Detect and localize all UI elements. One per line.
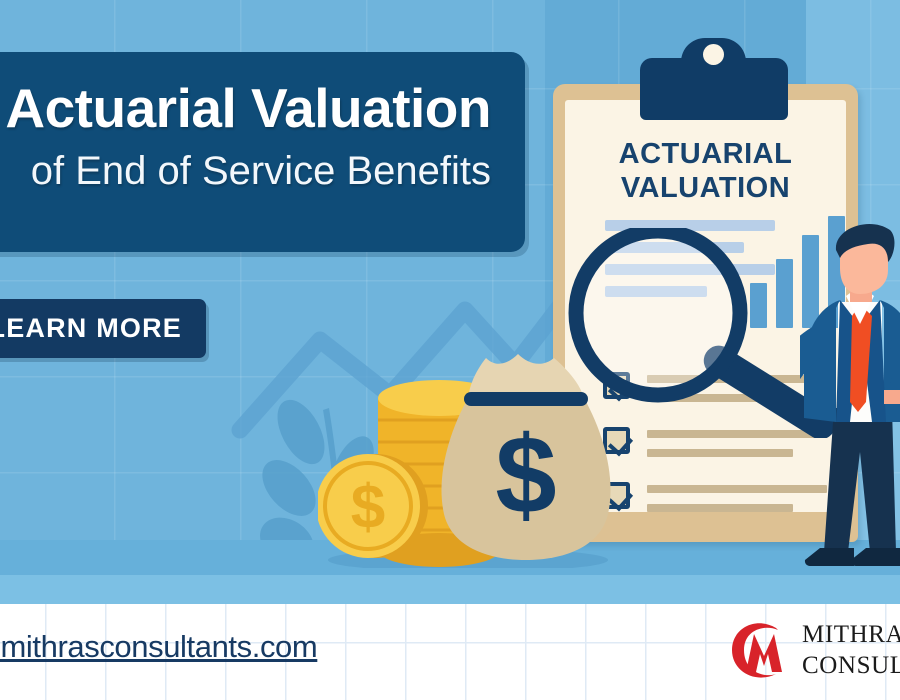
clipboard-title-line2: VALUATION — [565, 172, 846, 206]
company-logo[interactable]: MITHRAS CONSULTA — [726, 612, 900, 688]
svg-text:$: $ — [351, 473, 385, 542]
floor-band-light — [0, 575, 900, 604]
clipboard-title: ACTUARIAL VALUATION — [565, 138, 846, 205]
logo-wordmark: MITHRAS CONSULTA — [802, 620, 900, 681]
businessman-illustration — [800, 222, 900, 582]
promo-banner: Actuarial Valuation of End of Service Be… — [0, 0, 900, 700]
logo-mark-icon — [726, 614, 798, 686]
website-url[interactable]: w.mithrasconsultants.com — [0, 629, 317, 665]
page-subtitle: of End of Service Benefits — [0, 150, 491, 192]
clipboard-title-line1: ACTUARIAL — [565, 138, 846, 172]
page-title: Actuarial Valuation — [0, 80, 491, 136]
headline-panel: Actuarial Valuation of End of Service Be… — [0, 52, 525, 252]
checklist-text-line — [647, 449, 793, 457]
clipboard-clip — [640, 58, 788, 120]
checklist-text-line — [647, 504, 793, 512]
checklist-item[interactable] — [603, 482, 833, 537]
clipboard-clip-hole — [703, 44, 724, 65]
coin: $ — [318, 454, 428, 558]
logo-name-line2: CONSULTA — [802, 651, 900, 682]
learn-more-button[interactable]: LEARN MORE — [0, 299, 206, 358]
svg-text:$: $ — [495, 414, 556, 537]
logo-name-line1: MITHRAS — [802, 620, 900, 651]
